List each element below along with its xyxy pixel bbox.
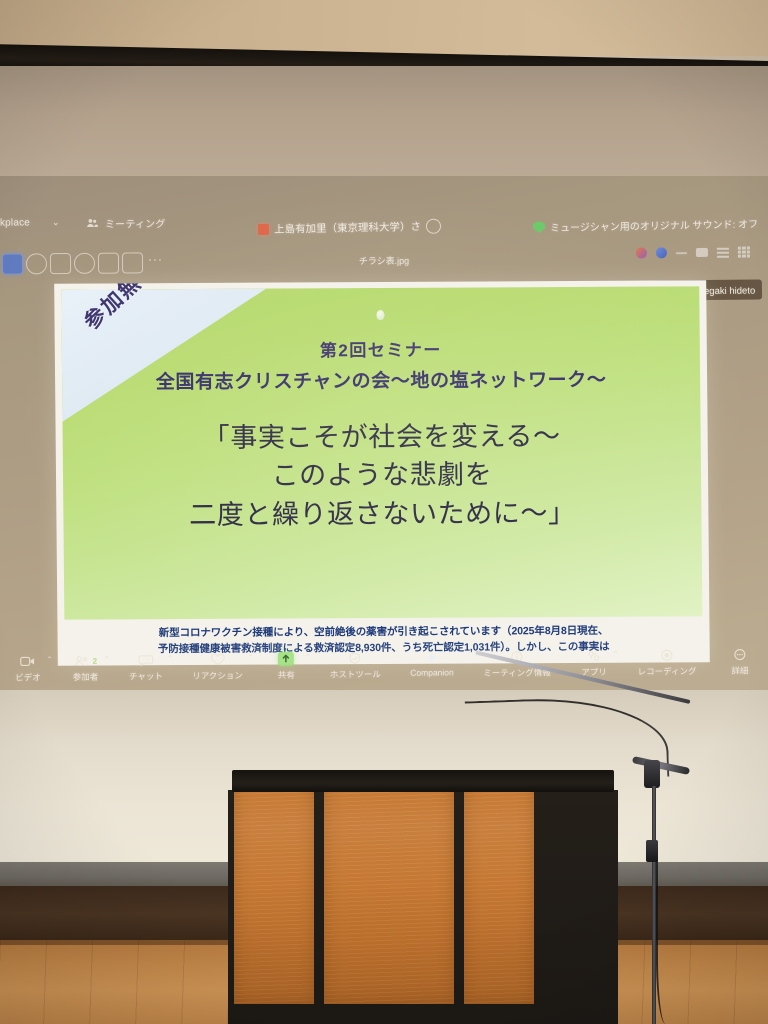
photo-of-projected-zoom-meeting: kplace ⌄ ミーティング 上島有加里（東京理科大学）さ ミュージシャン用の…: [0, 0, 768, 1024]
toolbar-button-ellipsis-circle[interactable]: 詳細: [726, 646, 754, 676]
split-view-icon[interactable]: [717, 247, 729, 257]
toolbar-button-heart[interactable]: ⌃リアクション: [192, 651, 243, 681]
microphone-height-clamp: [646, 840, 658, 862]
toolbar-label: 詳細: [731, 665, 748, 677]
seminar-number: 第2回セミナー: [55, 334, 707, 362]
toolbar-label: チャット: [129, 670, 163, 682]
toolbar-button-participants[interactable]: 2⌃参加者: [71, 653, 99, 683]
active-presenter-chip[interactable]: 上島有加里（東京理科大学）さ: [258, 219, 441, 238]
apps-icon: [586, 649, 602, 663]
shield-check-icon: [533, 221, 545, 233]
quote-line-2: このような悲劇を: [56, 455, 708, 497]
record-circle-icon: [659, 648, 675, 662]
video-tool-button[interactable]: [122, 252, 143, 273]
toolbar-label: ビデオ: [15, 671, 41, 683]
chevron-up-icon[interactable]: ⌃: [167, 654, 174, 663]
toolbar-label: 参加者: [73, 671, 99, 683]
original-sound-label: ミュージシャン用のオリジナル サウンド: オフ: [550, 215, 758, 234]
pointer-tool-button[interactable]: [26, 253, 47, 274]
heart-icon: [209, 653, 225, 667]
presenter-name: 上島有加里（東京理科大学）さ: [274, 219, 421, 237]
toolbar-button-video-camera[interactable]: ⌃ビデオ: [14, 653, 42, 683]
share-screen-icon: [278, 652, 294, 666]
slide-decoration-dot: [376, 310, 384, 320]
microphone-boom-joint: [644, 760, 660, 788]
workspace-menu[interactable]: kplace: [0, 217, 30, 228]
pen-icon[interactable]: [656, 247, 667, 258]
quote-line-3: 二度と繰り返さないために〜」: [56, 493, 708, 535]
toolbar-label: 共有: [278, 669, 295, 681]
toolbar-label: レコーディング: [638, 665, 697, 678]
zoom-meeting-window: kplace ⌄ ミーティング 上島有加里（東京理科大学）さ ミュージシャン用の…: [0, 196, 768, 696]
toolbar-button-sparkle[interactable]: Companion: [410, 649, 454, 677]
organization-name: 全国有志クリスチャンの会〜地の塩ネットワーク〜: [55, 364, 707, 394]
more-tools-icon[interactable]: ···: [148, 252, 163, 266]
toolbar-button-record-circle[interactable]: レコーディング: [637, 647, 696, 678]
quote-line-1: 「事実こそが社会を変える〜: [55, 416, 707, 458]
maximize-icon[interactable]: [696, 248, 708, 257]
meeting-menu[interactable]: ミーティング: [86, 215, 166, 231]
podium-panel-left: [234, 774, 314, 1004]
workspace-chevron[interactable]: ⌄: [52, 217, 60, 228]
participants-icon: [86, 217, 99, 230]
toolbar-button-share-screen[interactable]: ⌃共有: [272, 651, 300, 681]
workspace-label: kplace: [0, 217, 30, 228]
toolbar-button-shield[interactable]: ホストツール: [330, 650, 381, 680]
chevron-up-icon[interactable]: ⌃: [46, 655, 53, 664]
sparkle-icon: [424, 650, 440, 664]
podium-panel-right: [464, 774, 534, 1004]
annotate-icon[interactable]: [636, 247, 647, 258]
podium-panel-center: [324, 774, 454, 1004]
wooden-podium: [228, 770, 618, 1024]
upper-wall: [0, 66, 768, 186]
chevron-up-icon[interactable]: ⌃: [304, 653, 311, 662]
ellipsis-circle-icon: [732, 648, 748, 662]
emoji-face-icon[interactable]: [426, 219, 441, 234]
toolbar-button-chat-bubble[interactable]: ⌃チャット: [129, 652, 163, 682]
annotation-toolbar-row: ··· チラシ表.jpg: [0, 244, 768, 279]
meeting-label: ミーティング: [105, 215, 166, 231]
spotlight-tool-button[interactable]: [74, 253, 95, 274]
presenter-initial-badge: [258, 224, 269, 235]
chat-bubble-icon: [138, 653, 154, 667]
toolbar-label: ホストツール: [330, 668, 381, 680]
participants-icon: [74, 654, 90, 668]
participant-count: 2: [93, 656, 98, 665]
select-tool-button[interactable]: [2, 253, 23, 274]
chevron-up-icon[interactable]: ⌃: [612, 650, 619, 659]
chevron-up-icon[interactable]: ⌃: [247, 653, 254, 662]
shield-icon: [347, 651, 363, 665]
video-camera-icon: [20, 654, 36, 668]
stamp-tool-button[interactable]: [98, 253, 119, 274]
shared-slide-image[interactable]: 参加無料 第2回セミナー 全国有志クリスチャンの会〜地の塩ネットワーク〜 「事実…: [54, 280, 710, 665]
chevron-down-icon: ⌄: [52, 217, 60, 228]
toolbar-button-apps[interactable]: ⌃アプリ: [580, 648, 608, 678]
gallery-view-icon[interactable]: [738, 246, 750, 257]
original-sound-status[interactable]: ミュージシャン用のオリジナル サウンド: オフ: [533, 215, 758, 234]
microphone-cable-lower: [656, 860, 680, 1024]
shared-file-name: チラシ表.jpg: [359, 254, 409, 267]
minimize-icon[interactable]: [676, 252, 687, 254]
slide-quote: 「事実こそが社会を変える〜 このような悲劇を 二度と繰り返さないために〜」: [55, 416, 708, 534]
toolbar-label: Companion: [410, 667, 454, 677]
toolbar-label: リアクション: [192, 669, 243, 681]
chevron-up-icon[interactable]: ⌃: [104, 655, 111, 664]
window-controls: [636, 246, 750, 258]
erase-tool-button[interactable]: [50, 253, 71, 274]
